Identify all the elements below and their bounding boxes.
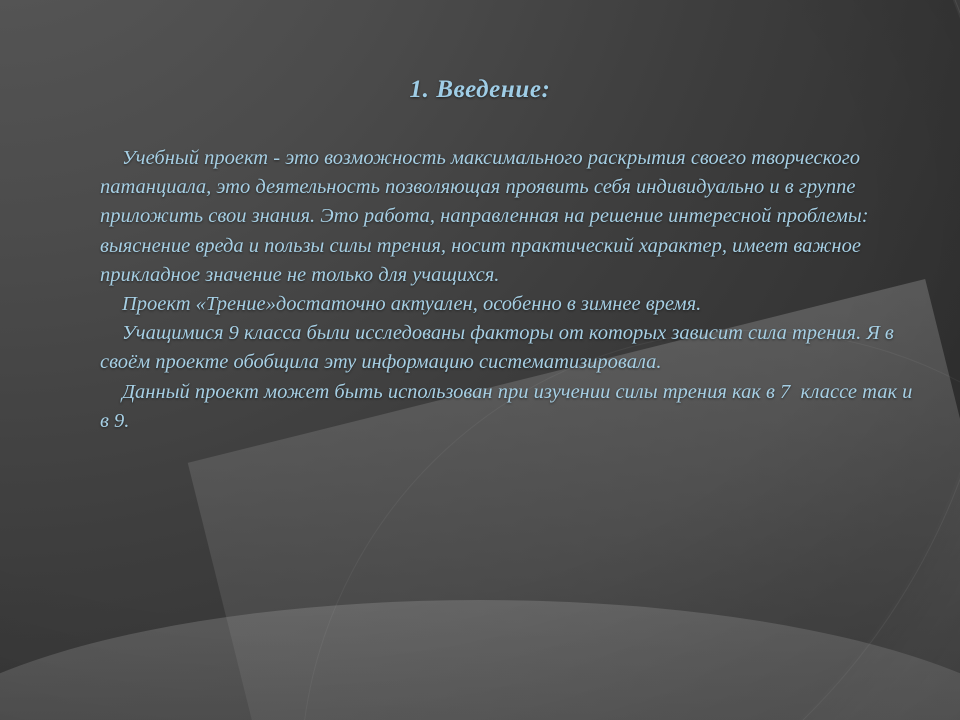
slide-content: 1. Введение: Учебный проект - это возмож… — [0, 0, 960, 720]
slide-body-text: Учебный проект - это возможность максима… — [100, 144, 920, 436]
body-paragraph: Учащимися 9 класса были исследованы факт… — [100, 319, 920, 377]
body-paragraph: Проект «Трение»достаточно актуален, особ… — [100, 290, 920, 319]
presentation-slide: 1. Введение: Учебный проект - это возмож… — [0, 0, 960, 720]
slide-title: 1. Введение: — [0, 76, 960, 104]
body-paragraph: Данный проект может быть использован при… — [100, 378, 920, 436]
body-paragraph: Учебный проект - это возможность максима… — [100, 144, 920, 290]
